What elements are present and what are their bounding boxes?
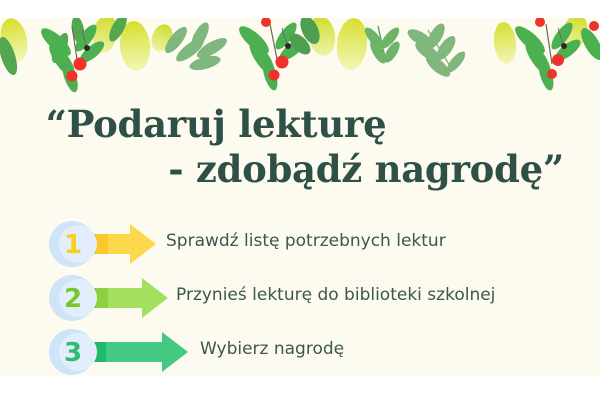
poster-title: “Podaruj lekturę - zdobądź nagrodę” [0, 102, 600, 192]
steps-list: 1 Sprawdź listę potrzebnych lektur 2 Prz… [0, 218, 600, 376]
step-item-1: 1 Sprawdź listę potrzebnych lektur [0, 218, 600, 270]
step-item-2: 2 Przynieś lekturę do biblioteki szkolne… [0, 272, 600, 324]
step-1-number: 1 [64, 230, 82, 260]
foliage-border-decoration [0, 18, 600, 103]
step-2-label: Przynieś lekturę do biblioteki szkolnej [176, 285, 495, 305]
title-line-1: “Podaruj lekturę [0, 102, 600, 147]
step-item-3: 3 Wybierz nagrodę [0, 326, 600, 376]
step-3-number: 3 [64, 338, 82, 368]
title-line-2: - zdobądź nagrodę” [0, 147, 600, 192]
poster-canvas: “Podaruj lekturę - zdobądź nagrodę” 1 Sp… [0, 18, 600, 376]
step-2-arrow-graphic: 2 [46, 272, 178, 324]
step-3-label: Wybierz nagrodę [200, 339, 344, 359]
step-2-number: 2 [64, 284, 82, 314]
step-1-arrow-graphic: 1 [46, 218, 166, 270]
step-3-arrow-graphic: 3 [46, 326, 198, 376]
step-1-label: Sprawdź listę potrzebnych lektur [166, 231, 446, 251]
